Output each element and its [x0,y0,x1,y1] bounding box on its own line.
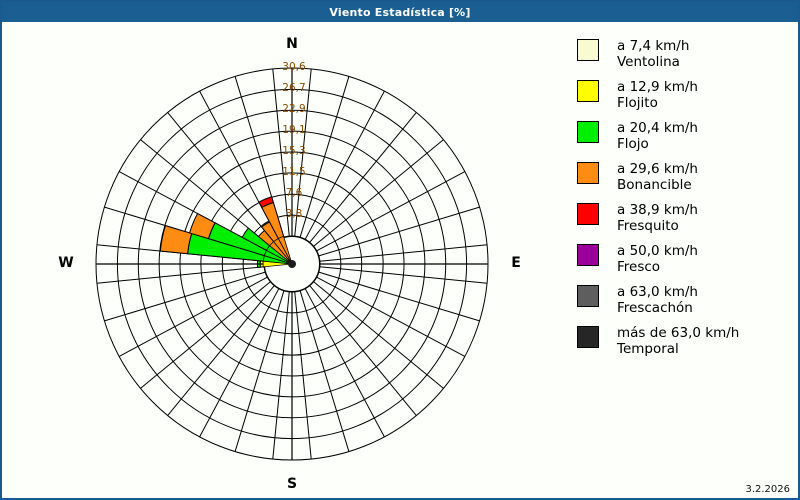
legend-speed-range: a 7,4 km/h [617,38,689,54]
legend-item: a 20,4 km/hFlojo [577,120,792,153]
date-stamp: 3.2.2026 [745,484,790,495]
legend-label: a 12,9 km/hFlojito [617,79,698,112]
legend-color-swatch [577,203,599,225]
legend-item: a 38,9 km/hFresquito [577,202,792,235]
legend-label: a 7,4 km/hVentolina [617,38,689,71]
legend-item: más de 63,0 km/hTemporal [577,325,792,358]
legend-label: a 50,0 km/hFresco [617,243,698,276]
radial-tick-label: 11,5 [282,166,305,178]
radial-tick-label: 7,6 [286,187,303,199]
legend-label: a 29,6 km/hBonancible [617,161,698,194]
legend-speed-range: a 29,6 km/h [617,161,698,177]
legend-label: a 63,0 km/hFrescachón [617,284,698,317]
legend-item: a 63,0 km/hFrescachón [577,284,792,317]
legend-item: a 7,4 km/hVentolina [577,38,792,71]
radial-tick-label: 30,6 [282,61,305,73]
compass-label-south: S [282,476,302,492]
compass-label-north: N [282,36,302,52]
radial-tick-label: 3,8 [286,208,303,220]
radial-tick-label: 22,9 [282,103,305,115]
radial-tick-label: 26,7 [282,82,305,94]
legend-label: a 20,4 km/hFlojo [617,120,698,153]
legend-color-swatch [577,244,599,266]
legend: a 7,4 km/hVentolinaa 12,9 km/hFlojitoa 2… [577,38,792,366]
radial-tick-label: 19,1 [282,124,305,136]
center-marker [288,260,296,268]
legend-color-swatch [577,326,599,348]
legend-speed-range: a 50,0 km/h [617,243,698,259]
legend-item: a 29,6 km/hBonancible [577,161,792,194]
legend-speed-range: más de 63,0 km/h [617,325,739,341]
legend-label: más de 63,0 km/hTemporal [617,325,739,358]
windrose-segment [160,226,191,254]
legend-speed-name: Frescachón [617,300,698,316]
legend-speed-name: Bonancible [617,177,698,193]
legend-speed-name: Flojo [617,136,698,152]
legend-speed-name: Temporal [617,341,739,357]
legend-speed-range: a 20,4 km/h [617,120,698,136]
legend-speed-range: a 63,0 km/h [617,284,698,300]
legend-color-swatch [577,80,599,102]
legend-item: a 12,9 km/hFlojito [577,79,792,112]
legend-speed-range: a 38,9 km/h [617,202,698,218]
radial-tick-label: 15,3 [282,145,305,157]
legend-speed-name: Flojito [617,95,698,111]
windrose-plot: N E S W 3,87,611,515,319,122,926,730,6 [2,22,567,500]
legend-speed-name: Fresco [617,259,698,275]
legend-color-swatch [577,285,599,307]
legend-color-swatch [577,121,599,143]
compass-label-east: E [506,255,526,271]
compass-label-west: W [56,255,76,271]
legend-speed-range: a 12,9 km/h [617,79,698,95]
legend-label: a 38,9 km/hFresquito [617,202,698,235]
legend-color-swatch [577,162,599,184]
legend-item: a 50,0 km/hFresco [577,243,792,276]
legend-speed-name: Fresquito [617,218,698,234]
wind-statistics-window: Viento Estadística [%] N E S W 3,87,611,… [0,0,800,500]
legend-speed-name: Ventolina [617,54,689,70]
window-titlebar: Viento Estadística [%] [2,2,798,22]
window-title: Viento Estadística [%] [329,6,470,19]
legend-color-swatch [577,39,599,61]
